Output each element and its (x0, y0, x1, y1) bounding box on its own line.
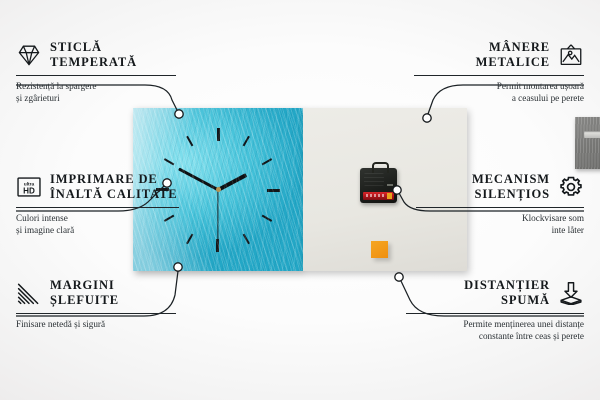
picture-frame-icon (558, 43, 584, 67)
callout-header: ultra HD IMPRIMARE DE ÎNALTĂ CALITATE (16, 172, 179, 203)
callout-header: STICLĂ TEMPERATĂ (16, 40, 176, 71)
ultra-hd-icon: ultra HD (16, 175, 42, 199)
callout-divider (16, 75, 176, 76)
callout-subtitle: Rezistență la spargere și zgârieturi (16, 80, 176, 105)
callout-divider (16, 207, 179, 208)
callout-header: DISTANȚIER SPUMĂ (406, 278, 584, 309)
gear-icon (558, 175, 584, 199)
callout-subtitle: Finisare netedă și sigură (16, 318, 176, 330)
mechanism-housing-detail (364, 173, 384, 186)
callout-silent-mechanism: MECANISM SILENȚIOS Klockvisare som inte … (416, 172, 584, 236)
callout-foam-spacer: DISTANȚIER SPUMĂ Permite menținerea unei… (406, 278, 584, 342)
callout-divider (16, 313, 176, 314)
callout-title: DISTANȚIER SPUMĂ (464, 278, 550, 309)
mechanism-label-dot (387, 184, 393, 186)
svg-text:HD: HD (23, 187, 35, 196)
callout-title: MÂNERE METALICE (476, 40, 550, 71)
callout-metal-handles: MÂNERE METALICE Permit montarea ușoară a… (414, 40, 584, 104)
diamond-icon (16, 43, 42, 67)
callout-title: MECANISM SILENȚIOS (472, 172, 550, 203)
clock-tick (218, 189, 280, 191)
battery (363, 192, 394, 200)
callout-divider (406, 313, 584, 314)
callout-subtitle: Culori intense și imagine clară (16, 212, 179, 237)
callout-title: MARGINI ȘLEFUITE (50, 278, 119, 309)
callout-divider (416, 207, 584, 208)
metal-hanger-plate (575, 117, 600, 169)
callout-header: MECANISM SILENȚIOS (416, 172, 584, 203)
callout-subtitle: Klockvisare som inte låter (416, 212, 584, 237)
callout-polished-edges: MARGINI ȘLEFUITE Finisare netedă și sigu… (16, 278, 176, 330)
callout-title: IMPRIMARE DE ÎNALTĂ CALITATE (50, 172, 178, 203)
mechanism-hanging-loop (372, 162, 389, 173)
hanger-slot (584, 131, 600, 138)
callout-header: MARGINI ȘLEFUITE (16, 278, 176, 309)
clock-center-pin (216, 187, 221, 192)
silent-mechanism-module (360, 168, 397, 203)
callout-title: STICLĂ TEMPERATĂ (50, 40, 137, 71)
callout-subtitle: Permite menținerea unei distanțe constan… (406, 318, 584, 343)
callout-divider (414, 75, 584, 76)
callout-header: MÂNERE METALICE (414, 40, 584, 71)
beveled-edge-icon (16, 281, 42, 305)
leader-node-spacer (395, 273, 403, 281)
callout-tempered-glass: STICLĂ TEMPERATĂ Rezistență la spargere … (16, 40, 176, 104)
callout-high-quality-print: ultra HD IMPRIMARE DE ÎNALTĂ CALITATE Cu… (16, 172, 179, 236)
clock-tick (217, 128, 219, 190)
callout-subtitle: Permit montarea ușoară a ceasului pe per… (414, 80, 584, 105)
product-infographic: STICLĂ TEMPERATĂ Rezistență la spargere … (0, 0, 600, 400)
foam-spacer-pad (371, 241, 388, 258)
spacer-arrow-icon (558, 281, 584, 305)
